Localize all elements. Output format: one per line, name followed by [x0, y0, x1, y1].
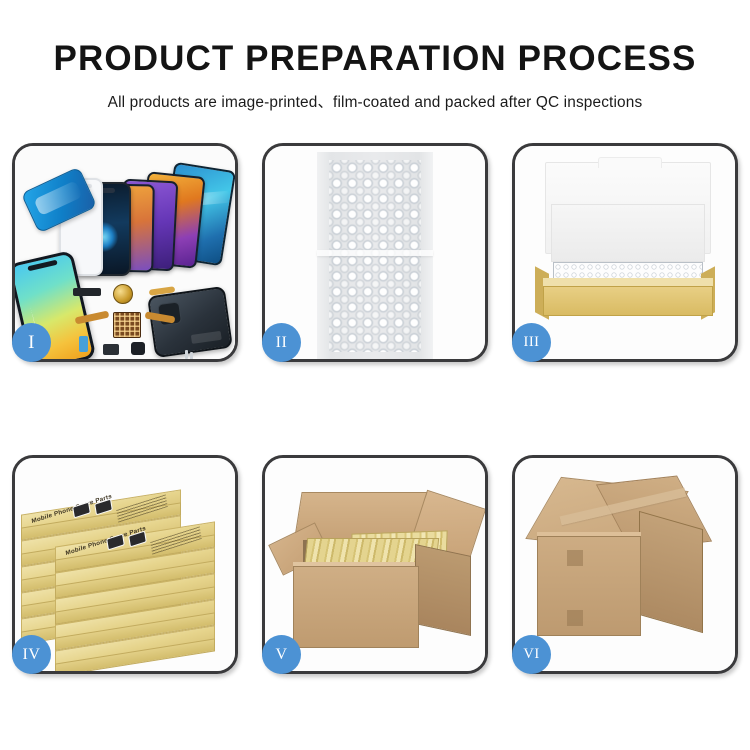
carton-front-face	[537, 536, 641, 636]
step-badge-6: VI	[512, 635, 551, 674]
product-preparation-infographic: PRODUCT PREPARATION PROCESS All products…	[0, 0, 750, 750]
header: PRODUCT PREPARATION PROCESS All products…	[0, 0, 750, 112]
step-3-image	[515, 146, 735, 359]
steps-row-1: I II	[0, 131, 750, 443]
steps-grid: I II	[0, 131, 750, 750]
retail-box-stack: Mobile Phone Spare Parts	[19, 476, 235, 671]
steps-row-2: Mobile Phone Spare Parts	[0, 443, 750, 750]
flex-cable-1	[75, 311, 110, 325]
screws-part	[185, 350, 195, 359]
inner-box-cavity	[551, 204, 705, 262]
copper-coil-part	[113, 284, 133, 304]
step-badge-5: V	[262, 635, 301, 674]
step-badge-4: IV	[12, 635, 51, 674]
step-2-image	[265, 146, 485, 359]
earpiece-part	[73, 288, 101, 296]
step-panel-6[interactable]: VI	[512, 455, 738, 674]
retail-box	[55, 638, 215, 664]
speaker-part	[103, 344, 119, 355]
step-badge-2: II	[262, 323, 301, 362]
bubble-wrap-seam	[317, 250, 433, 256]
step-4-image: Mobile Phone Spare Parts	[15, 458, 235, 671]
carton-right-face	[639, 511, 703, 633]
step-6-image	[515, 458, 735, 671]
step-panel-3[interactable]: III	[512, 143, 738, 362]
step-1-image	[15, 146, 235, 359]
step-badge-1: I	[12, 323, 51, 362]
carton-front-face	[293, 566, 419, 648]
flex-cable-2	[145, 311, 176, 323]
button-part	[79, 336, 88, 352]
bubble-wrap-bubbles-offset	[329, 160, 421, 352]
camera-module-part	[131, 342, 145, 355]
page-subtitle: All products are image-printed、film-coat…	[0, 90, 750, 112]
step-badge-3: III	[512, 323, 551, 362]
inner-box-front	[543, 286, 713, 316]
step-panel-1[interactable]: I	[12, 143, 238, 362]
step-panel-4[interactable]: Mobile Phone Spare Parts	[12, 455, 238, 674]
carton-tab-upper	[567, 550, 583, 566]
step-5-image	[265, 458, 485, 671]
step-panel-5[interactable]: V	[262, 455, 488, 674]
page-title: PRODUCT PREPARATION PROCESS	[0, 41, 750, 76]
chip-grid-part	[113, 312, 141, 338]
step-panel-2[interactable]: II	[262, 143, 488, 362]
carton-tab-lower	[567, 610, 583, 626]
carton-right-face	[415, 544, 471, 636]
flex-cable-3	[149, 286, 176, 296]
spare-parts-cluster	[73, 284, 191, 359]
